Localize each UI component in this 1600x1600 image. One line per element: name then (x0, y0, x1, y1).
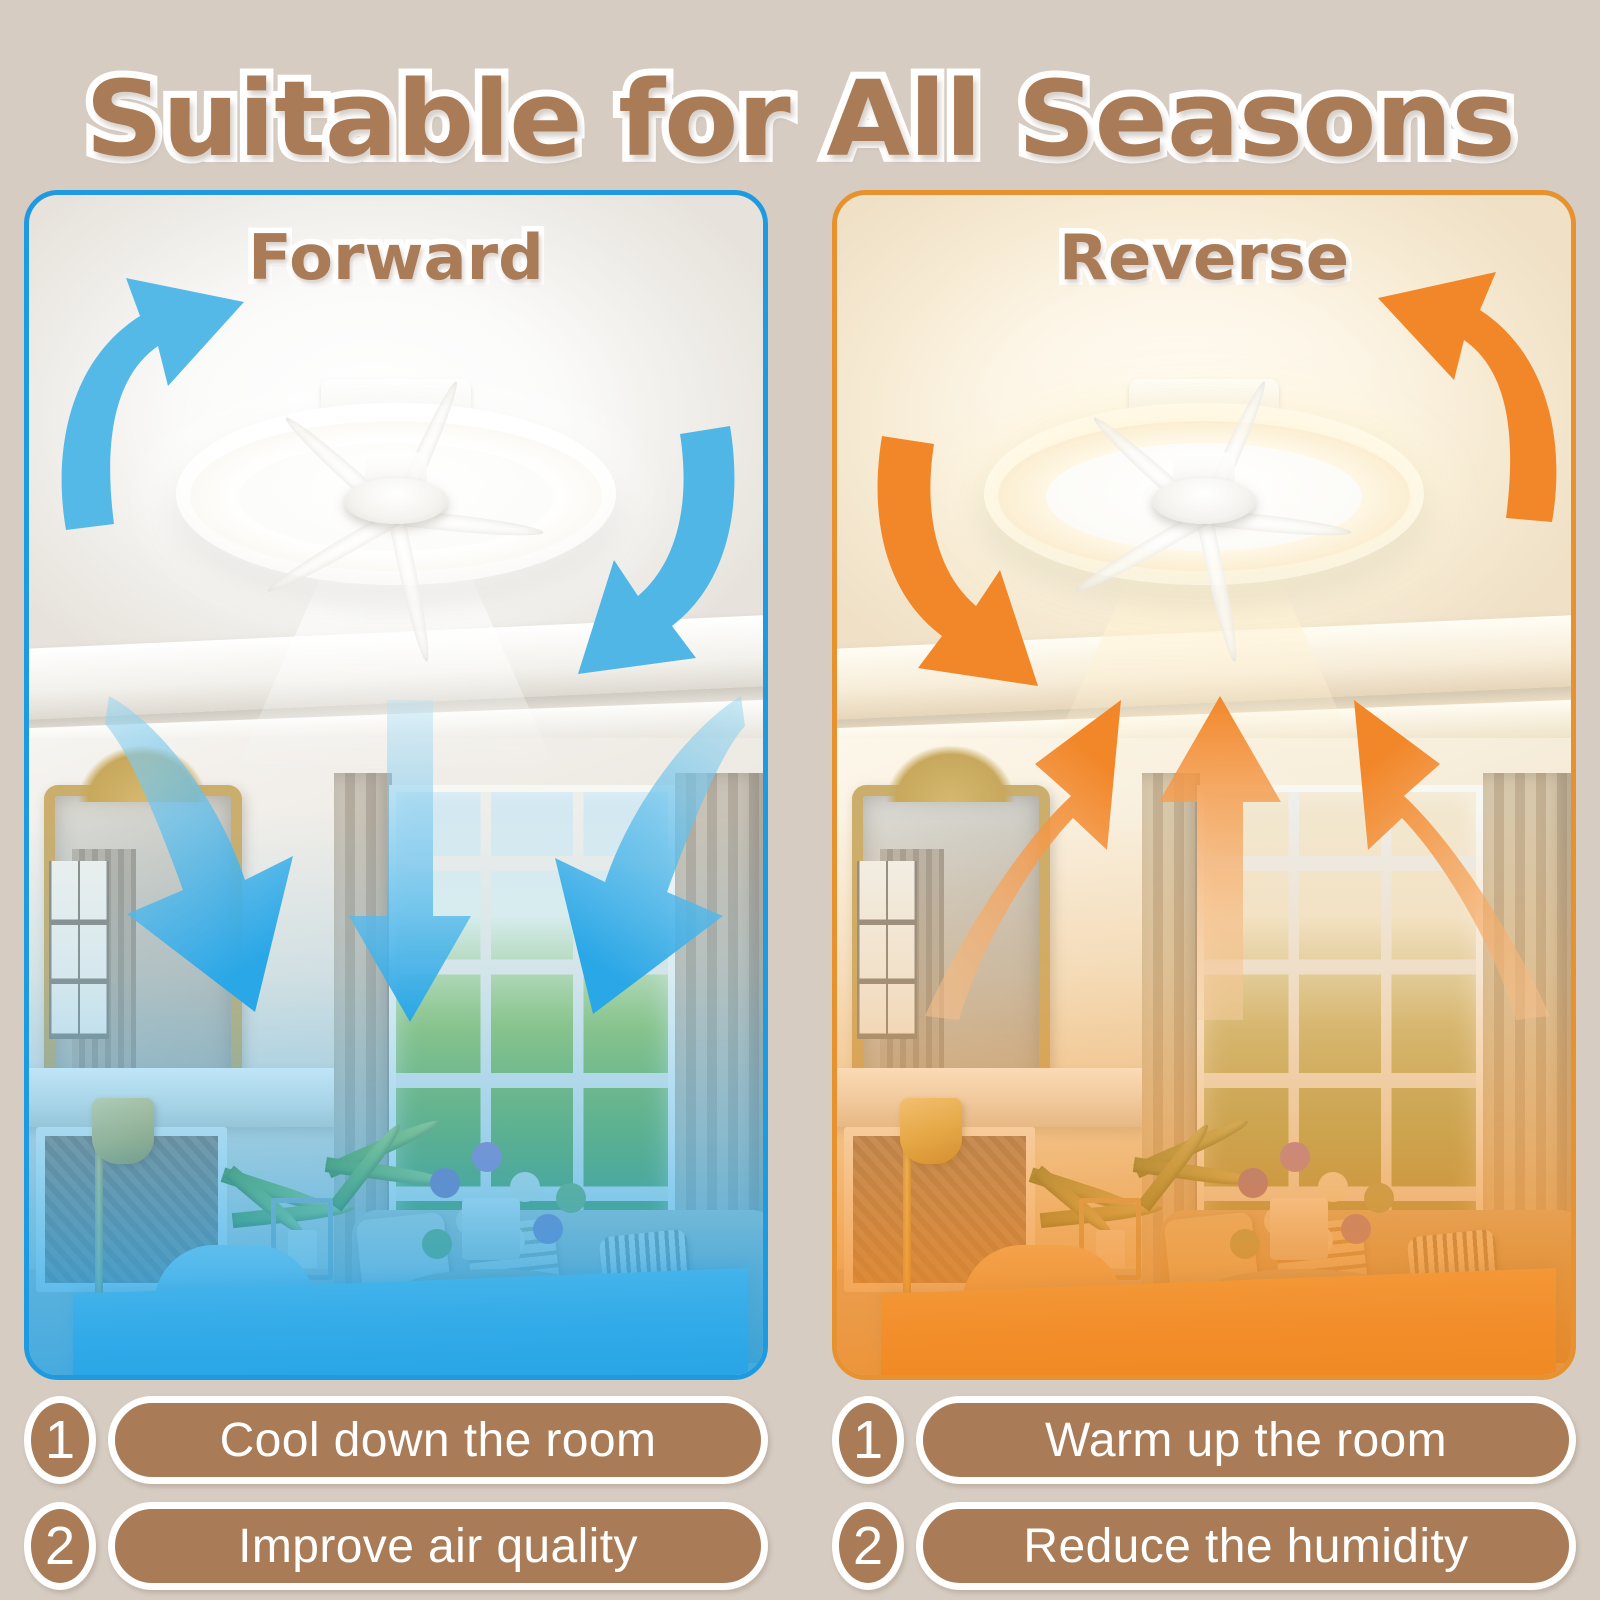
floor-lamp-shade (92, 1098, 154, 1164)
ceiling-fan-light (176, 381, 616, 611)
vase (462, 1198, 520, 1260)
panel-label-reverse: Reverse (832, 221, 1576, 294)
fan-hub (344, 478, 448, 524)
mirror-reflection-window (857, 861, 917, 1039)
badge-number: 1 (832, 1396, 904, 1484)
caption-text: Warm up the room (916, 1396, 1576, 1484)
fireplace-mantel (29, 1068, 337, 1127)
badge-number: 2 (832, 1502, 904, 1590)
light-beam (1039, 571, 1369, 781)
light-beam (231, 571, 561, 781)
fan-hub (1152, 478, 1256, 524)
mirror-reflection-window (49, 861, 109, 1039)
caption-row: 2 Improve air quality (24, 1500, 768, 1592)
scene-reverse (837, 195, 1571, 1375)
page-title: Suitable for All Seasons (0, 58, 1600, 180)
caption-text: Improve air quality (108, 1502, 768, 1590)
scene-forward (29, 195, 763, 1375)
badge-number: 2 (24, 1502, 96, 1590)
fan-blade-area (1046, 443, 1362, 551)
captions-forward: 1 Cool down the room 2 Improve air quali… (24, 1394, 768, 1600)
vase (1270, 1198, 1328, 1260)
caption-text: Cool down the room (108, 1396, 768, 1484)
floor-lamp-shade (900, 1098, 962, 1164)
ornate-gold-mirror (852, 785, 1050, 1104)
panel-forward: Forward (24, 190, 768, 1380)
panel-label-forward: Forward (24, 221, 768, 294)
caption-row: 2 Reduce the humidity (832, 1500, 1576, 1592)
caption-text: Reduce the humidity (916, 1502, 1576, 1590)
caption-row: 1 Cool down the room (24, 1394, 768, 1486)
caption-row: 1 Warm up the room (832, 1394, 1576, 1486)
infographic-root: Suitable for All Seasons (0, 0, 1600, 1600)
fan-blade-area (238, 443, 554, 551)
panel-reverse: Reverse (832, 190, 1576, 1380)
ornate-gold-mirror (44, 785, 242, 1104)
badge-number: 1 (24, 1396, 96, 1484)
ceiling-fan-light (984, 381, 1424, 611)
captions-reverse: 1 Warm up the room 2 Reduce the humidity (832, 1394, 1576, 1600)
fireplace-mantel (837, 1068, 1145, 1127)
